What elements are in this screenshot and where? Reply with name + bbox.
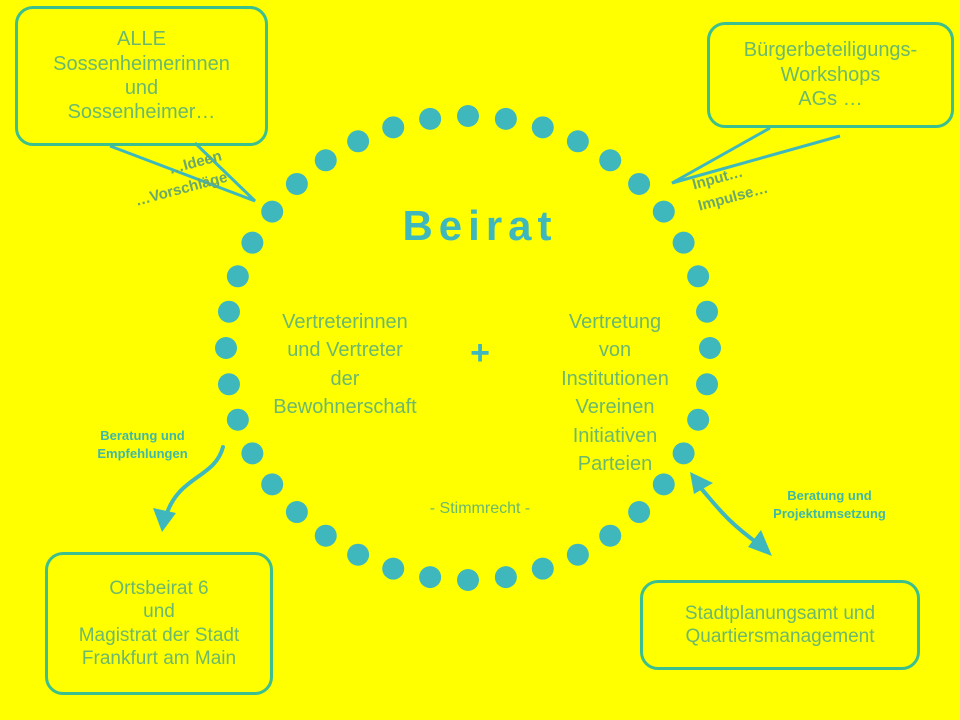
speech-bubble-workshops[interactable]: Bürgerbeteiligungs- Workshops AGs …: [707, 22, 954, 128]
ortsbeirat-line-3: Magistrat der Stadt: [79, 624, 240, 647]
arrow-label-right-line-2: Projektumsetzung: [773, 506, 886, 521]
institutions-line-3: Institutionen: [515, 365, 715, 393]
ring-dot: [567, 544, 589, 566]
speech-bubble-citizens[interactable]: ALLE Sossenheimerinnen und Sossenheimer…: [15, 6, 268, 146]
ortsbeirat-line-2: und: [143, 600, 175, 623]
ring-dot: [347, 544, 369, 566]
page-title: Beirat: [0, 202, 960, 250]
ring-dot: [286, 173, 308, 195]
ring-dot: [215, 337, 237, 359]
ring-dot: [315, 149, 337, 171]
ring-dot: [599, 525, 621, 547]
bubble-workshops-line-1: Bürgerbeteiligungs-: [744, 38, 917, 62]
ring-dot: [218, 301, 240, 323]
ring-dot: [532, 116, 554, 138]
institutions-line-2: von: [515, 336, 715, 364]
institutions-line-5: Initiativen: [515, 422, 715, 450]
ring-dot: [687, 265, 709, 287]
plus-icon: +: [459, 336, 501, 370]
bubble-citizens-line-2: Sossenheimerinnen: [53, 52, 230, 76]
ring-dot: [495, 566, 517, 588]
council-column-residents: Vertreterinnen und Vertreter der Bewohne…: [245, 308, 445, 422]
ring-dot: [419, 566, 441, 588]
bubble-workshops-line-3: AGs …: [798, 87, 862, 111]
residents-line-1: Vertreterinnen: [245, 308, 445, 336]
ring-dot: [382, 116, 404, 138]
stadtplanungsamt-line-1: Stadtplanungsamt und: [685, 602, 875, 625]
ring-dot: [495, 108, 517, 130]
ring-dot: [347, 130, 369, 152]
arrow-label-left-line-2: Empfehlungen: [97, 446, 187, 461]
arrow-label-left-line-1: Beratung und: [100, 428, 185, 443]
ring-dot: [419, 108, 441, 130]
ring-dot: [382, 558, 404, 580]
ring-dot: [628, 173, 650, 195]
ring-dot: [457, 569, 479, 591]
council-column-institutions: Vertretung von Institutionen Vereinen In…: [515, 308, 715, 478]
ring-dot: [567, 130, 589, 152]
institutions-line-1: Vertretung: [515, 308, 715, 336]
ring-dot: [599, 149, 621, 171]
ring-dot: [457, 105, 479, 127]
residents-line-3: der: [245, 365, 445, 393]
residents-line-2: und Vertreter: [245, 336, 445, 364]
stadtplanungsamt-line-2: Quartiersmanagement: [685, 625, 874, 648]
arrow-label-right-line-1: Beratung und: [787, 488, 872, 503]
ring-dot: [315, 525, 337, 547]
bubble-citizens-line-3: und: [125, 76, 158, 100]
ortsbeirat-line-4: Frankfurt am Main: [82, 647, 236, 670]
diagram-canvas: ALLE Sossenheimerinnen und Sossenheimer……: [0, 0, 960, 720]
arrow-label-beratung-projektumsetzung: Beratung und Projektumsetzung: [742, 487, 917, 522]
ortsbeirat-line-1: Ortsbeirat 6: [109, 577, 208, 600]
residents-line-4: Bewohnerschaft: [245, 393, 445, 421]
bubble-citizens-line-4: Sossenheimer…: [68, 100, 216, 124]
box-ortsbeirat[interactable]: Ortsbeirat 6 und Magistrat der Stadt Fra…: [45, 552, 273, 695]
arrow-label-beratung-empfehlungen: Beratung und Empfehlungen: [70, 427, 215, 462]
arrow-head-box-end: [748, 530, 772, 556]
institutions-line-4: Vereinen: [515, 393, 715, 421]
ring-dot: [227, 265, 249, 287]
ring-dot: [218, 373, 240, 395]
ring-dot: [532, 558, 554, 580]
bubble-workshops-line-2: Workshops: [781, 63, 881, 87]
council-composition: Vertreterinnen und Vertreter der Bewohne…: [245, 308, 715, 478]
bubble-citizens-line-1: ALLE: [117, 27, 166, 51]
box-stadtplanungsamt[interactable]: Stadtplanungsamt und Quartiersmanagement: [640, 580, 920, 670]
institutions-line-6: Parteien: [515, 450, 715, 478]
